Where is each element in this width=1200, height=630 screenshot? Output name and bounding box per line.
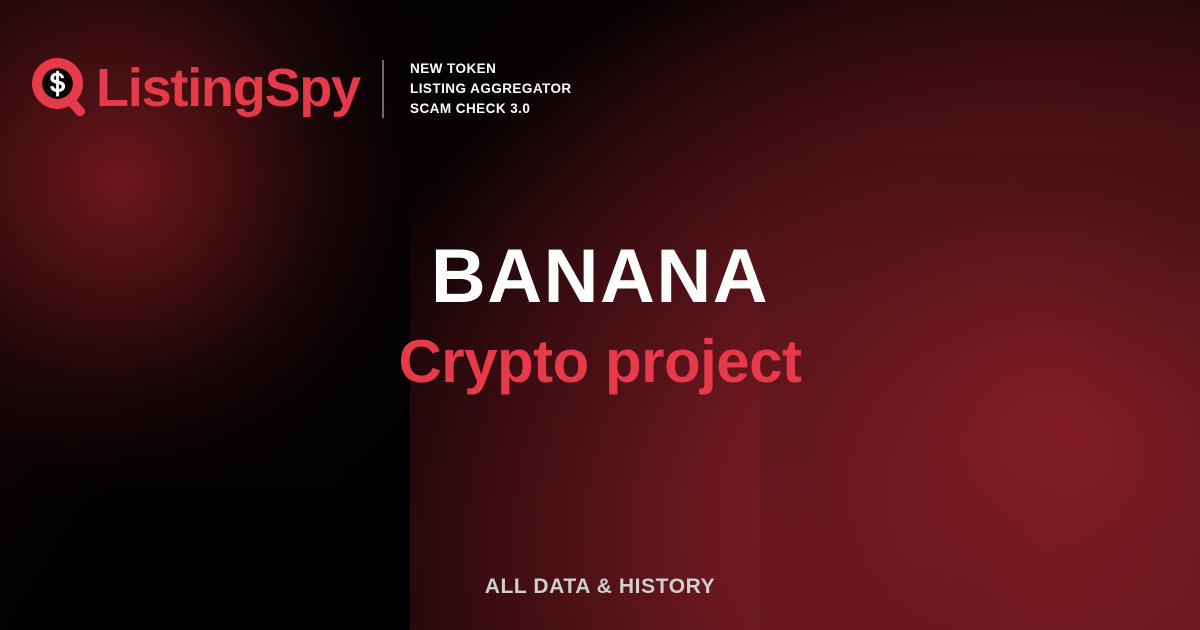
tagline-line-1: NEW TOKEN [410,59,572,79]
token-name: BANANA [0,238,1200,316]
hero-subtitle: Crypto project [0,330,1200,393]
footer-section: ALL DATA & HISTORY [0,575,1200,599]
brand-divider [382,60,384,118]
promo-banner: ListingSpy NEW TOKEN LISTING AGGREGATOR … [0,0,1200,630]
tagline-line-3: SCAM CHECK 3.0 [410,99,572,119]
magnifier-dollar-icon [32,58,94,120]
tagline-line-2: LISTING AGGREGATOR [410,79,572,99]
brand-tagline: NEW TOKEN LISTING AGGREGATOR SCAM CHECK … [410,59,572,119]
brand-header: ListingSpy NEW TOKEN LISTING AGGREGATOR … [32,52,572,126]
footer-caption: ALL DATA & HISTORY [0,575,1200,599]
hero-section: BANANA Crypto project [0,238,1200,393]
brand-wordmark: ListingSpy [96,61,360,115]
